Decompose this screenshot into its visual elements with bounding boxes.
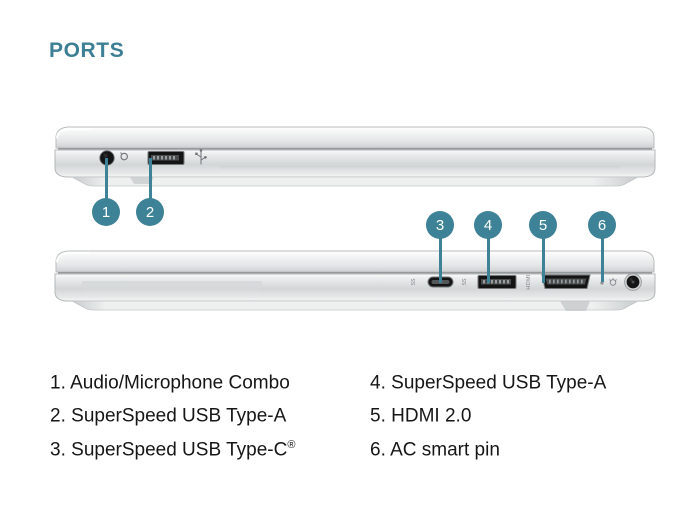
legend-item-5-label: HDMI 2.0 — [391, 406, 471, 427]
laptop-bottom-taper — [72, 177, 638, 186]
callout-leader-3 — [439, 238, 442, 283]
legend-item-4-label: SuperSpeed USB Type-A — [391, 372, 606, 393]
callout-5[interactable]: 5 — [529, 211, 557, 239]
laptop-vent-texture — [82, 281, 262, 295]
legend-item-4: 4. SuperSpeed USB Type-A — [370, 365, 660, 396]
callout-3[interactable]: 3 — [426, 211, 454, 239]
legend-item-3-sup: ® — [287, 439, 295, 451]
ports-legend: 1. Audio/Microphone Combo 2. SuperSpeed … — [50, 365, 660, 463]
laptop-lid — [56, 251, 654, 272]
callout-2[interactable]: 2 — [136, 198, 164, 226]
legend-item-2-label: SuperSpeed USB Type-A — [71, 406, 286, 427]
hdmi-text-icon: HDMI — [526, 274, 532, 290]
svg-text:HDMI: HDMI — [526, 274, 532, 290]
svg-text:SS: SS — [411, 278, 417, 285]
ss-usb-icon-2: SS — [462, 278, 468, 285]
page-title: PORTS — [49, 39, 124, 63]
legend-item-4-number: 4. — [370, 372, 386, 393]
laptop-lid — [56, 127, 654, 148]
ss-usb-icon: SS — [411, 278, 417, 285]
laptop-left-side-view — [50, 124, 660, 194]
legend-item-5-number: 5. — [370, 406, 386, 427]
legend-item-1-label: Audio/Microphone Combo — [70, 372, 290, 393]
legend-item-3: 3. SuperSpeed USB Type-C® — [50, 432, 370, 463]
legend-column-right: 4. SuperSpeed USB Type-A 5. HDMI 2.0 6. … — [370, 365, 660, 463]
legend-item-3-label: SuperSpeed USB Type-C — [71, 439, 287, 460]
legend-item-6-number: 6. — [370, 439, 386, 460]
legend-item-3-number: 3. — [50, 439, 66, 460]
laptop-bottom-taper — [72, 301, 638, 310]
laptop-right-side-view: SS SS — [50, 248, 660, 318]
legend-column-left: 1. Audio/Microphone Combo 2. SuperSpeed … — [50, 365, 370, 463]
legend-item-6-label: AC smart pin — [390, 439, 500, 460]
legend-item-1-number: 1. — [50, 372, 66, 393]
legend-item-6: 6. AC smart pin — [370, 432, 660, 463]
legend-item-2-number: 2. — [50, 406, 66, 427]
callout-1[interactable]: 1 — [92, 198, 120, 226]
callout-6[interactable]: 6 — [588, 211, 616, 239]
callout-leader-4 — [487, 238, 490, 283]
callout-leader-5 — [542, 238, 545, 283]
ports-diagram-canvas: PORTS — [0, 0, 700, 525]
callout-4[interactable]: 4 — [474, 211, 502, 239]
legend-item-5: 5. HDMI 2.0 — [370, 398, 660, 429]
legend-item-1: 1. Audio/Microphone Combo — [50, 365, 370, 396]
laptop-texture-band — [220, 166, 620, 174]
svg-text:SS: SS — [462, 278, 468, 285]
legend-item-2: 2. SuperSpeed USB Type-A — [50, 398, 370, 429]
callout-leader-6 — [601, 238, 604, 282]
